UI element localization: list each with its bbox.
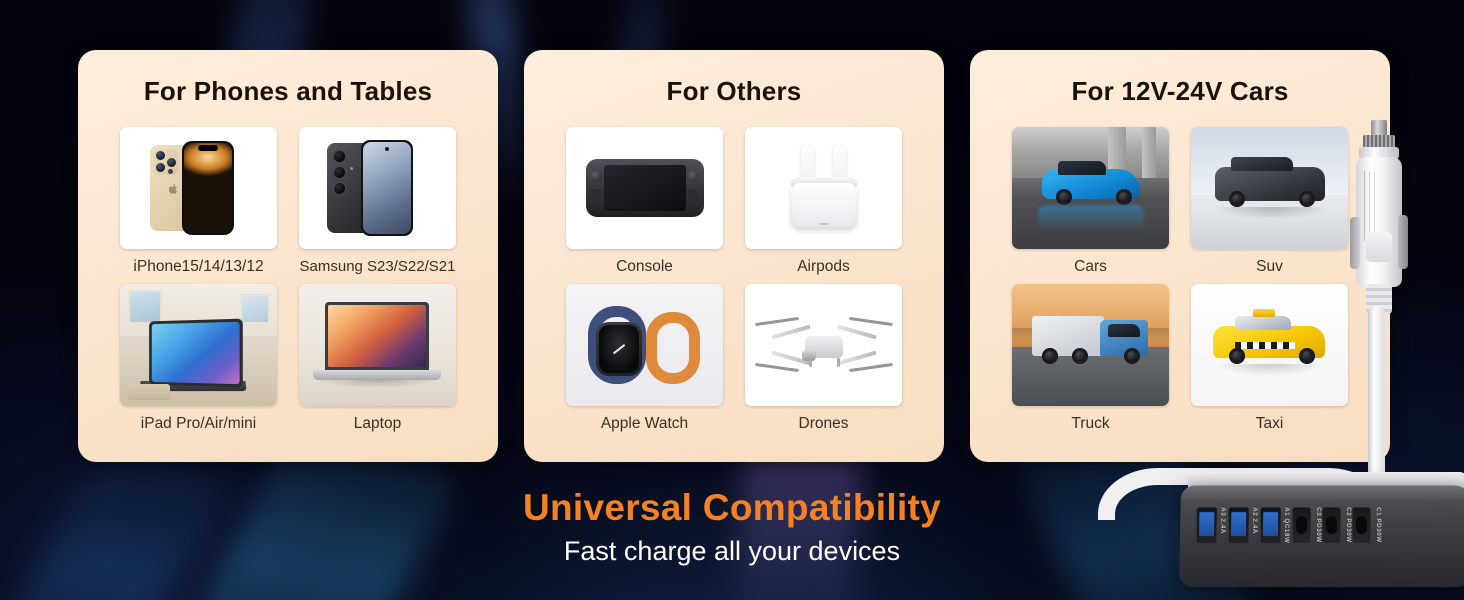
plug-contact-clip	[1350, 217, 1360, 269]
ipad-image	[120, 284, 277, 406]
panel-title: For 12V-24V Cars	[970, 76, 1390, 107]
cigarette-lighter-plug	[1352, 120, 1406, 320]
headline-subtitle: Fast charge all your devices	[0, 536, 1464, 567]
device-label: Console	[566, 258, 723, 276]
device-cell[interactable]: Laptop	[299, 284, 456, 433]
device-label: Airpods	[745, 258, 902, 276]
device-label: iPad Pro/Air/mini	[120, 415, 277, 433]
device-cell[interactable]: Console	[566, 127, 723, 276]
laptop-image	[299, 284, 456, 406]
plug-contact-clip	[1398, 215, 1408, 269]
device-label: Laptop	[299, 415, 456, 433]
device-cell[interactable]: Samsung S23/S22/S21	[299, 127, 456, 276]
handheld-console-image	[566, 127, 723, 249]
brand-mark	[1448, 476, 1452, 485]
headline-title: Universal Compatibility	[0, 487, 1464, 529]
device-cell[interactable]: iPad Pro/Air/mini	[120, 284, 277, 433]
infographic-canvas: For Phones and Tables	[0, 0, 1464, 600]
plug-body	[1356, 157, 1402, 287]
apple-watch-image	[566, 284, 723, 406]
plug-button	[1366, 232, 1392, 262]
device-label: Samsung S23/S22/S21	[299, 258, 456, 275]
charger-cable	[1368, 306, 1385, 496]
device-label: iPhone15/14/13/12	[120, 258, 277, 276]
plug-tip	[1371, 120, 1387, 136]
device-cell[interactable]: Airpods	[745, 127, 902, 276]
panel-title: For Phones and Tables	[78, 76, 498, 107]
device-cell[interactable]: iPhone15/14/13/12	[120, 127, 277, 276]
iphone-image	[120, 127, 277, 249]
apple-logo-icon	[168, 183, 179, 195]
device-label: Apple Watch	[566, 415, 723, 433]
panel-phones-and-tables: For Phones and Tables	[78, 50, 498, 462]
airpods-image	[745, 127, 902, 249]
panel-title: For Others	[524, 76, 944, 107]
drone-image	[745, 284, 902, 406]
device-grid: Console Airpods	[524, 127, 944, 433]
panel-others: For Others Console	[524, 50, 944, 462]
samsung-phone-image	[299, 127, 456, 249]
device-cell[interactable]: Drones	[745, 284, 902, 433]
device-grid: iPhone15/14/13/12 Samsung S23/S22	[78, 127, 498, 433]
device-cell[interactable]: Apple Watch	[566, 284, 723, 433]
device-label: Drones	[745, 415, 902, 433]
